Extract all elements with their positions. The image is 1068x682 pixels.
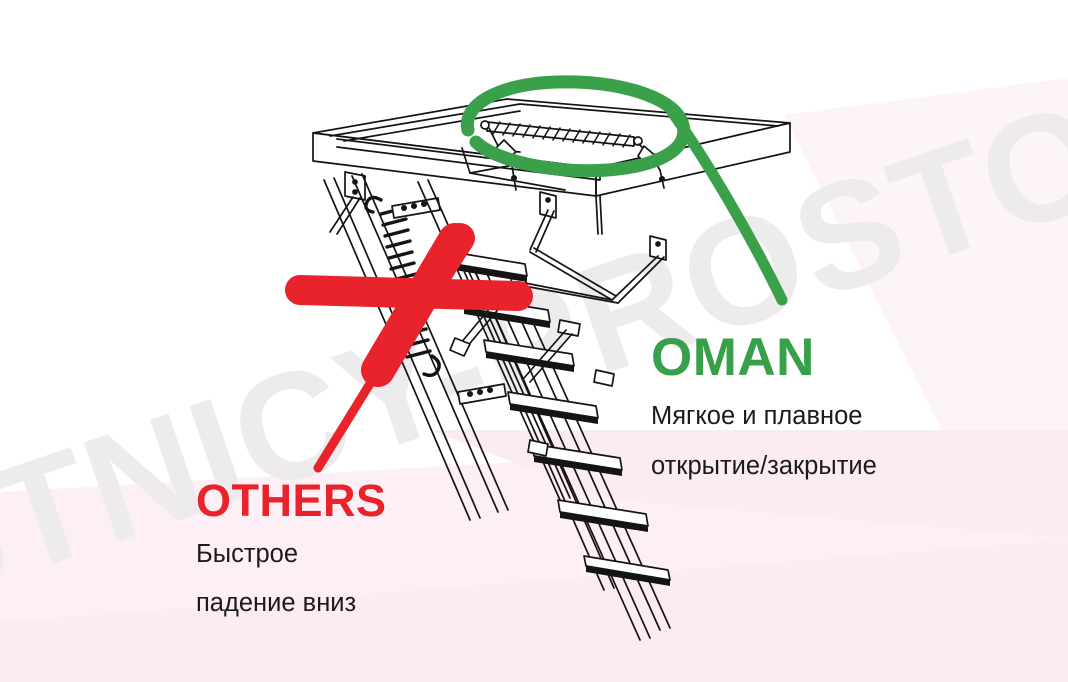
red-cross-arrow-marker xyxy=(300,238,518,468)
oman-subtitle-line-1: Мягкое и плавное xyxy=(651,398,877,434)
others-subtitle-line-1: Быстрое xyxy=(196,536,387,572)
callout-others: OTHERS Быстрое падение вниз xyxy=(196,478,387,621)
others-heading: OTHERS xyxy=(196,478,387,523)
oman-subtitle-line-2: открытие/закрытие xyxy=(651,448,877,484)
oman-heading: OMAN xyxy=(651,331,877,384)
annotation-layer xyxy=(0,0,1068,682)
green-ellipse-marker xyxy=(467,82,782,300)
illustration-canvas: LESTNICY-PROSTO.RU xyxy=(0,0,1068,682)
others-subtitle-line-2: падение вниз xyxy=(196,585,387,621)
callout-oman: OMAN Мягкое и плавное открытие/закрытие xyxy=(651,331,877,484)
